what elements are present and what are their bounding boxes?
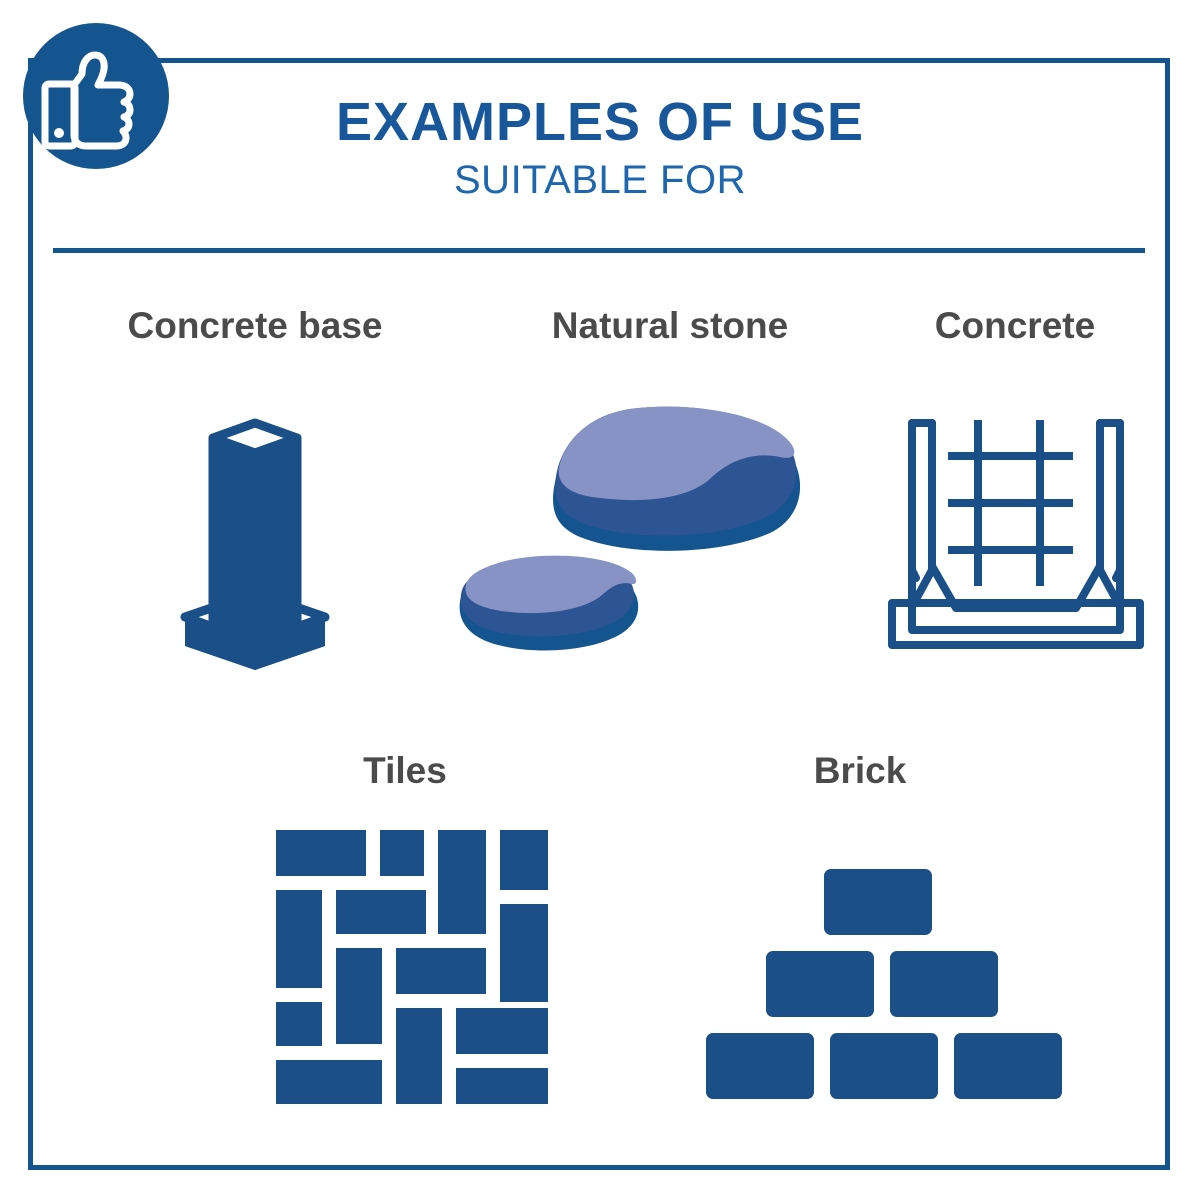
natural-stone-icon (440, 385, 840, 675)
brick-wall-icon (688, 855, 1028, 1105)
thumbs-up-badge (22, 22, 170, 170)
thumbs-up-icon (22, 22, 170, 170)
concrete-base-illustration (150, 405, 360, 690)
tiles-illustration (262, 818, 562, 1113)
item-label-brick: Brick (690, 750, 1030, 792)
page-subtitle: SUITABLE FOR (180, 156, 1020, 204)
brick-illustration (688, 855, 1028, 1105)
item-label-concrete: Concrete (870, 305, 1160, 347)
tile-pattern-icon (262, 818, 562, 1113)
concrete-illustration (868, 398, 1138, 653)
page-title: EXAMPLES OF USE (180, 95, 1020, 150)
concrete-formwork-rebar-icon (868, 398, 1138, 653)
infographic-card: EXAMPLES OF USE SUITABLE FOR Concrete ba… (0, 0, 1200, 1200)
concrete-pillar-icon (150, 405, 360, 690)
item-label-tiles: Tiles (235, 750, 575, 792)
header-divider (53, 248, 1145, 253)
item-label-natural-stone: Natural stone (470, 305, 870, 347)
item-label-concrete-base: Concrete base (60, 305, 450, 347)
header: EXAMPLES OF USE SUITABLE FOR (180, 95, 1020, 204)
natural-stone-illustration (440, 385, 840, 675)
